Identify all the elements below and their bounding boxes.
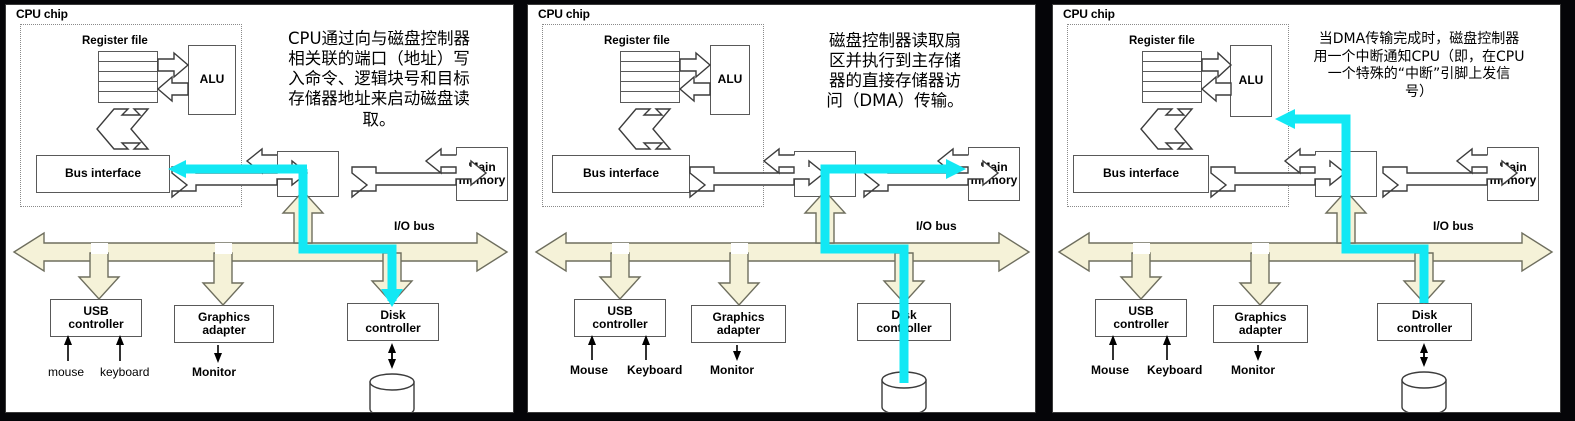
disk-controller-disk-arrows — [1420, 343, 1428, 367]
monitor-arrow — [1254, 345, 1262, 361]
regfile-bus-interface-arrow — [619, 109, 670, 149]
panel-3: CPU chip Register file ALU Bus interface… — [1052, 4, 1561, 413]
bus-interface-to-bridge-arrow — [1211, 149, 1345, 197]
monitor-arrow — [733, 345, 741, 361]
panel-1: CPU chip Register file ALU Bus interface… — [5, 4, 514, 413]
usb-device-arrows — [1109, 335, 1171, 360]
disk-cylinder — [1402, 372, 1446, 413]
bridge-to-memory-arrow — [1383, 149, 1517, 197]
alu-to-regfile-arrow — [680, 77, 710, 101]
bus-notch-graphics — [215, 243, 232, 254]
regfile-bus-interface-arrow — [1141, 109, 1192, 149]
usb-device-arrows — [64, 335, 124, 361]
diagram-canvas: CPU chip Register file ALU Bus interface… — [0, 0, 1575, 421]
highlight-path-panel-3 — [1275, 109, 1424, 303]
bridge-to-memory-arrow — [352, 149, 486, 197]
panel-2-vector-layer — [528, 5, 1036, 413]
regfile-to-alu-arrow — [158, 53, 188, 77]
regfile-to-alu-arrow — [1202, 53, 1231, 77]
highlight-arrowhead-cpu — [1275, 109, 1295, 129]
usb-device-arrows — [588, 335, 650, 360]
alu-to-regfile-arrow — [1202, 77, 1231, 101]
disk-cylinder — [370, 374, 414, 413]
io-bus — [536, 233, 1029, 271]
disk-controller-disk-arrows — [388, 343, 396, 369]
alu-to-regfile-arrow — [158, 77, 188, 101]
bus-notch-graphics — [1252, 243, 1269, 254]
bus-notch-usb — [612, 243, 629, 254]
io-bus — [14, 233, 507, 271]
highlight-arrowhead-disk — [381, 289, 403, 307]
bus-notch-usb — [1133, 243, 1150, 254]
bus-notch-usb — [91, 243, 108, 254]
monitor-arrow — [214, 345, 222, 363]
regfile-bus-interface-arrow — [97, 109, 148, 149]
panel-3-vector-layer — [1053, 5, 1561, 413]
bus-notch-graphics — [731, 243, 748, 254]
bus-interface-to-bridge-arrow — [690, 149, 824, 197]
panel-1-vector-layer — [6, 5, 514, 413]
panel-2: CPU chip Register file ALU Bus interface… — [527, 4, 1036, 413]
regfile-to-alu-arrow — [680, 53, 710, 77]
